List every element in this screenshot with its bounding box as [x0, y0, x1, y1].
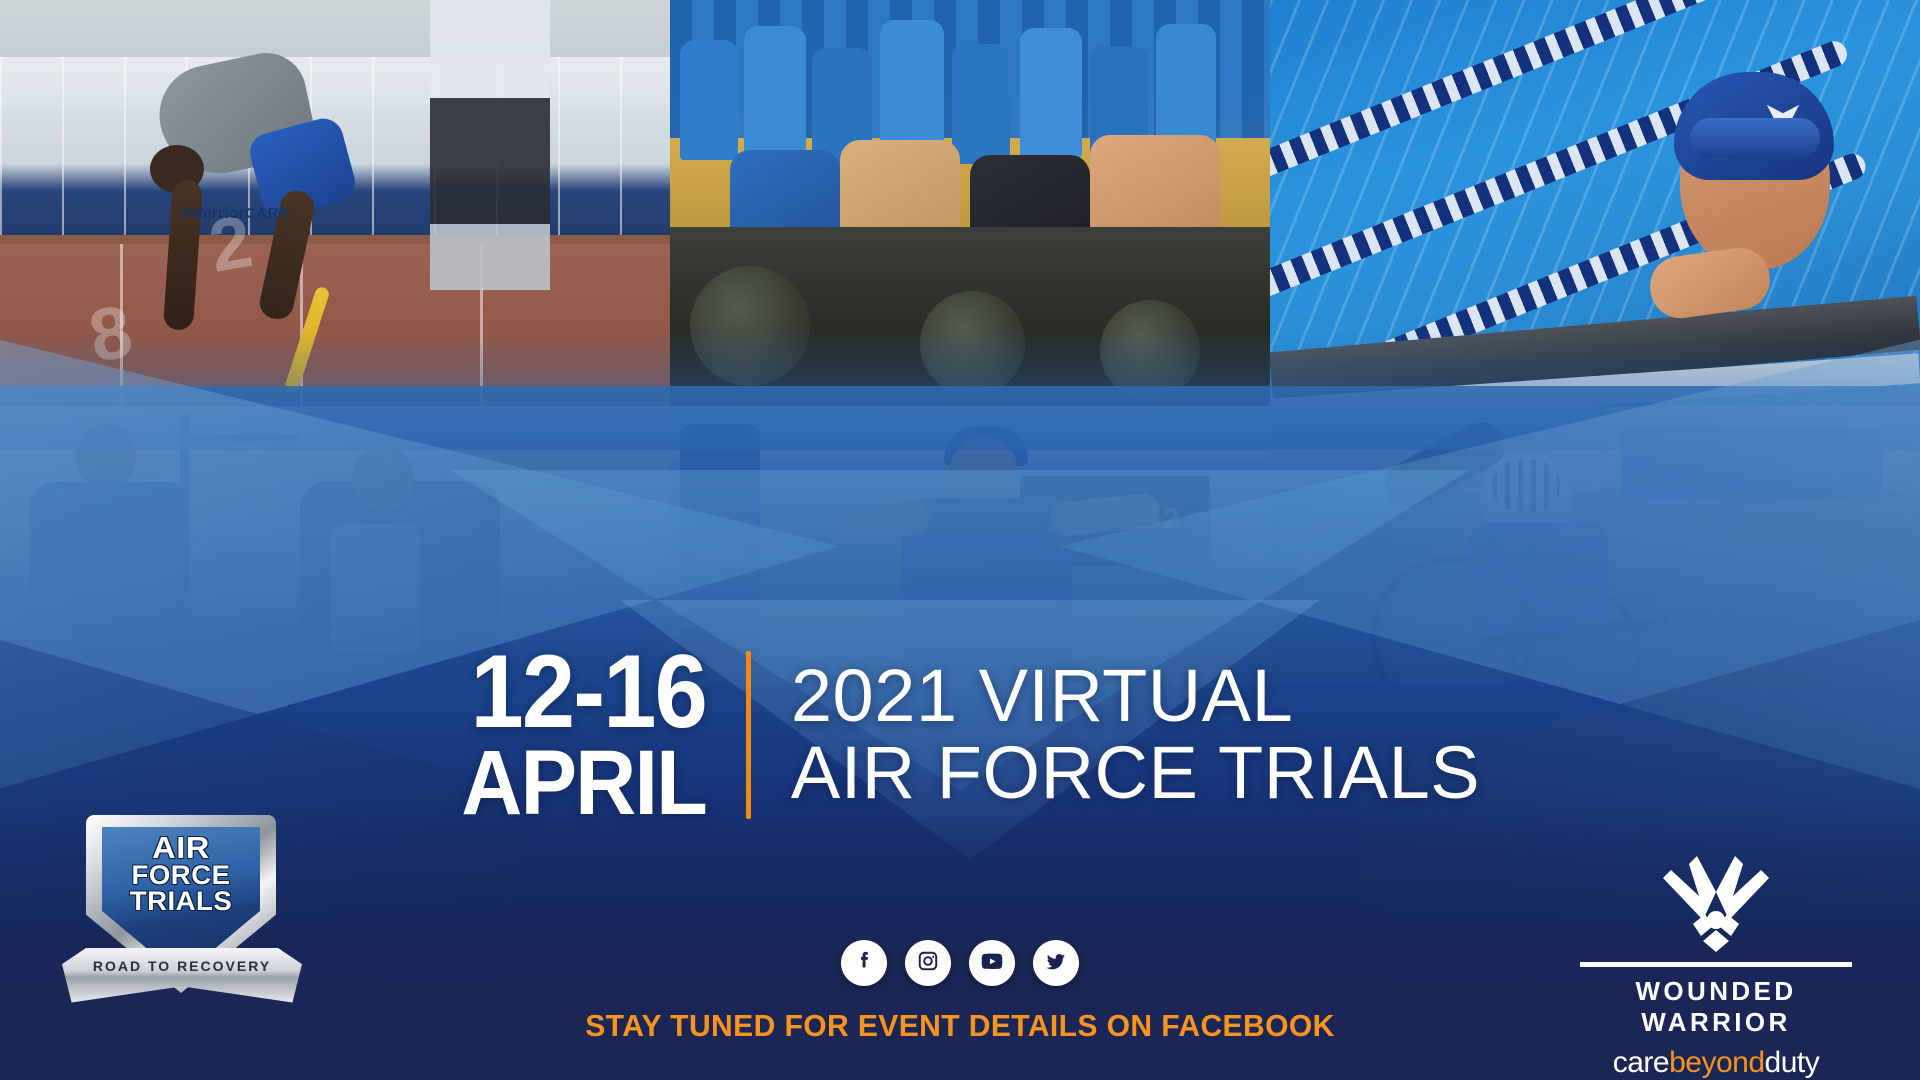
- wounded-warrior-logo: WOUNDED WARRIOR carebeyondduty: [1556, 848, 1876, 1080]
- wounded-warrior-tagline: carebeyondduty: [1556, 1046, 1876, 1080]
- second-archer-head: [352, 446, 414, 512]
- crowd-person: [952, 44, 1010, 164]
- archer-figure: [30, 424, 220, 624]
- shield-line-3: TRIALS: [100, 889, 261, 915]
- crowd-person: [880, 20, 944, 156]
- field-banner: [1621, 428, 1881, 501]
- air-force-wings-icon: [1641, 848, 1791, 952]
- facebook-icon: [851, 948, 877, 979]
- headline-block: 12-16 APRIL 2021 VIRTUAL AIR FORCE TRIAL…: [0, 640, 1920, 830]
- headline-divider-rule: [746, 651, 751, 819]
- social-link-twitter[interactable]: [1033, 940, 1079, 986]
- shield-line-1: AIR: [98, 833, 264, 863]
- archer-head: [76, 424, 136, 490]
- bow-sight: [180, 434, 300, 442]
- sprinter-arm: [163, 179, 203, 331]
- wounded-warrior-rule: [1580, 962, 1852, 967]
- chest-guard-vest: [330, 524, 420, 654]
- erg-flywheel: [690, 266, 810, 386]
- erg-flywheel: [920, 291, 1025, 396]
- photo-rowing-machines: [670, 0, 1270, 406]
- crowd-person: [680, 40, 738, 160]
- event-title-line1: 2021 VIRTUAL: [791, 658, 1480, 735]
- social-link-instagram[interactable]: [905, 940, 951, 986]
- photo-swimmer-pool: [1270, 0, 1920, 406]
- tagline-beyond: beyond: [1669, 1046, 1764, 1079]
- compound-bow: [180, 414, 190, 629]
- tagline-duty: duty: [1765, 1046, 1820, 1079]
- banner-hashtag: #WarriorCARE: [180, 205, 290, 222]
- photo-track-sprinter: 2 8 #WarriorCARE: [0, 0, 670, 406]
- social-link-youtube[interactable]: [969, 940, 1015, 986]
- crowd-person: [1020, 28, 1082, 158]
- social-link-facebook[interactable]: [841, 940, 887, 986]
- youtube-icon: [979, 948, 1005, 979]
- poster-root: 2 8 #WarriorCARE: [0, 0, 1920, 1080]
- archer-torso: [30, 482, 190, 632]
- bystander-figure: [430, 0, 550, 290]
- event-official-figure: [680, 424, 760, 664]
- date-range: 12-16: [461, 645, 706, 741]
- event-date: 12-16 APRIL: [440, 645, 706, 825]
- erg-flywheel: [1100, 300, 1200, 400]
- instagram-icon: [915, 948, 941, 979]
- tagline-care: care: [1613, 1046, 1669, 1079]
- twitter-icon: [1043, 948, 1069, 979]
- crowd-person: [744, 26, 806, 158]
- date-month: APRIL: [461, 741, 706, 826]
- event-title: 2021 VIRTUAL AIR FORCE TRIALS: [791, 658, 1480, 812]
- shield-wordmark: AIR FORCE TRIALS: [102, 833, 260, 915]
- swim-goggles: [1690, 118, 1820, 158]
- wounded-warrior-wordmark: WOUNDED WARRIOR: [1556, 976, 1876, 1038]
- event-title-line2: AIR FORCE TRIALS: [791, 735, 1480, 812]
